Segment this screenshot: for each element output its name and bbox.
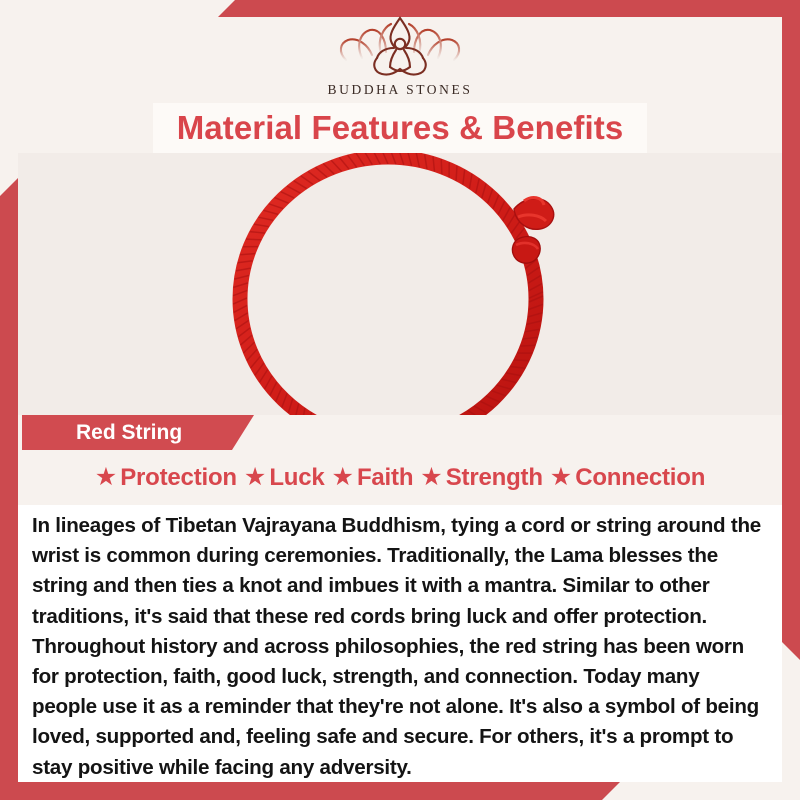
- section-label-banner: Red String: [22, 415, 254, 450]
- poster-root: BUDDHA STONES Material Features & Benefi…: [0, 0, 800, 800]
- benefit-label: Strength: [446, 464, 543, 492]
- benefit-item: ★Connection: [550, 464, 705, 492]
- frame-bar-bottom: [0, 782, 620, 800]
- frame-bar-right: [782, 0, 800, 660]
- benefit-label: Luck: [269, 464, 324, 492]
- frame-bar-left: [0, 178, 18, 800]
- star-icon: ★: [244, 465, 266, 490]
- star-icon: ★: [550, 465, 572, 490]
- star-icon: ★: [95, 465, 117, 490]
- benefit-item: ★Luck: [244, 464, 325, 492]
- page-title: Material Features & Benefits: [177, 109, 624, 147]
- benefit-label: Connection: [575, 464, 705, 492]
- benefit-item: ★Faith: [332, 464, 414, 492]
- brand-logo-block: BUDDHA STONES: [0, 14, 800, 98]
- hero-product-image: [18, 153, 782, 415]
- benefit-label: Faith: [357, 464, 413, 492]
- brand-name: BUDDHA STONES: [0, 82, 800, 98]
- benefit-label: Protection: [120, 464, 237, 492]
- star-icon: ★: [420, 465, 442, 490]
- section-label: Red String: [22, 421, 182, 445]
- body-panel: In lineages of Tibetan Vajrayana Buddhis…: [18, 505, 782, 782]
- benefit-item: ★Strength: [420, 464, 542, 492]
- title-banner: Material Features & Benefits: [153, 103, 647, 153]
- red-braided-bracelet-illustration: [18, 153, 782, 415]
- benefit-item: ★Protection: [95, 464, 237, 492]
- body-paragraph: In lineages of Tibetan Vajrayana Buddhis…: [18, 505, 782, 783]
- benefits-list: ★Protection★Luck★Faith★Strength★Connecti…: [18, 464, 782, 492]
- lotus-meditation-icon: [334, 14, 466, 80]
- star-icon: ★: [332, 465, 354, 490]
